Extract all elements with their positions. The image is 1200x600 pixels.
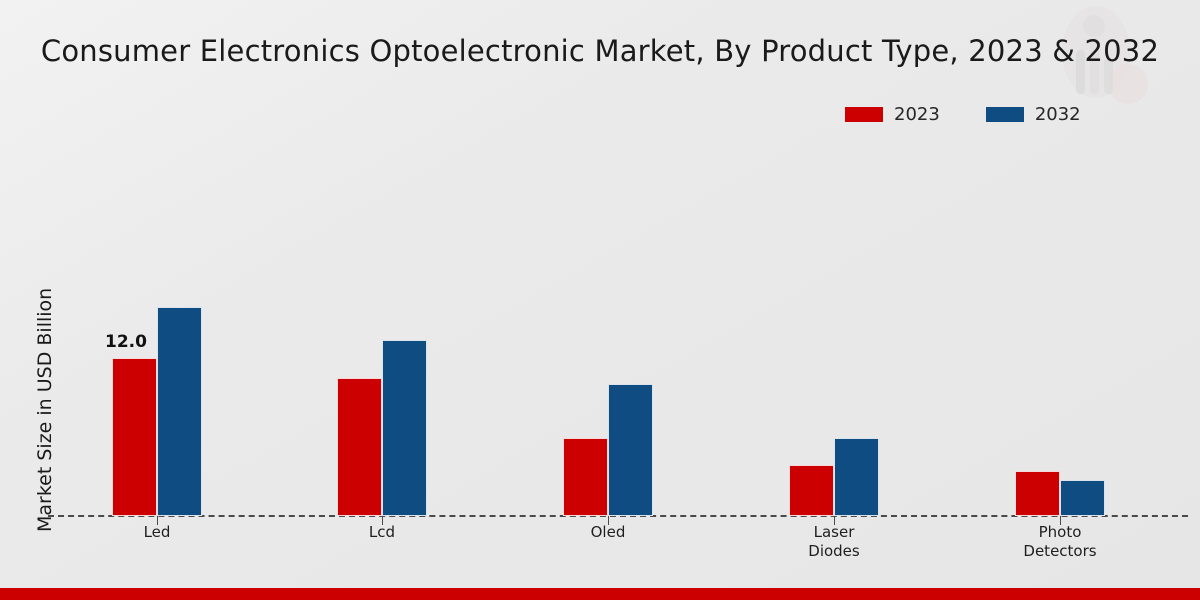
x-axis-label-photo-detectors: PhotoDetectors bbox=[980, 523, 1140, 561]
chart-figure: Consumer Electronics Optoelectronic Mark… bbox=[0, 0, 1200, 600]
bar-2032-laser-diodes[interactable] bbox=[834, 438, 879, 516]
bar-2032-photo-detectors[interactable] bbox=[1060, 480, 1105, 516]
bar-2023-laser-diodes[interactable] bbox=[789, 465, 834, 516]
bar-2023-lcd[interactable] bbox=[337, 378, 382, 516]
bar-2032-lcd[interactable] bbox=[382, 340, 427, 516]
bar-2023-photo-detectors[interactable] bbox=[1015, 471, 1060, 516]
bar-value-label-2023-led: 12.0 bbox=[105, 332, 147, 352]
bar-2023-led[interactable] bbox=[112, 358, 157, 516]
bar-2032-oled[interactable] bbox=[608, 384, 653, 516]
bar-2023-oled[interactable] bbox=[563, 438, 608, 516]
x-axis-label-led: Led bbox=[77, 523, 237, 542]
x-axis-label-laser-diodes: LaserDiodes bbox=[754, 523, 914, 561]
bottom-accent-stripe bbox=[0, 588, 1200, 600]
bar-2032-led[interactable] bbox=[157, 307, 202, 516]
bars-layer: 12.0LedLcdOledLaserDiodesPhotoDetectors bbox=[0, 0, 1200, 600]
x-axis-label-lcd: Lcd bbox=[302, 523, 462, 542]
x-axis-label-oled: Oled bbox=[528, 523, 688, 542]
